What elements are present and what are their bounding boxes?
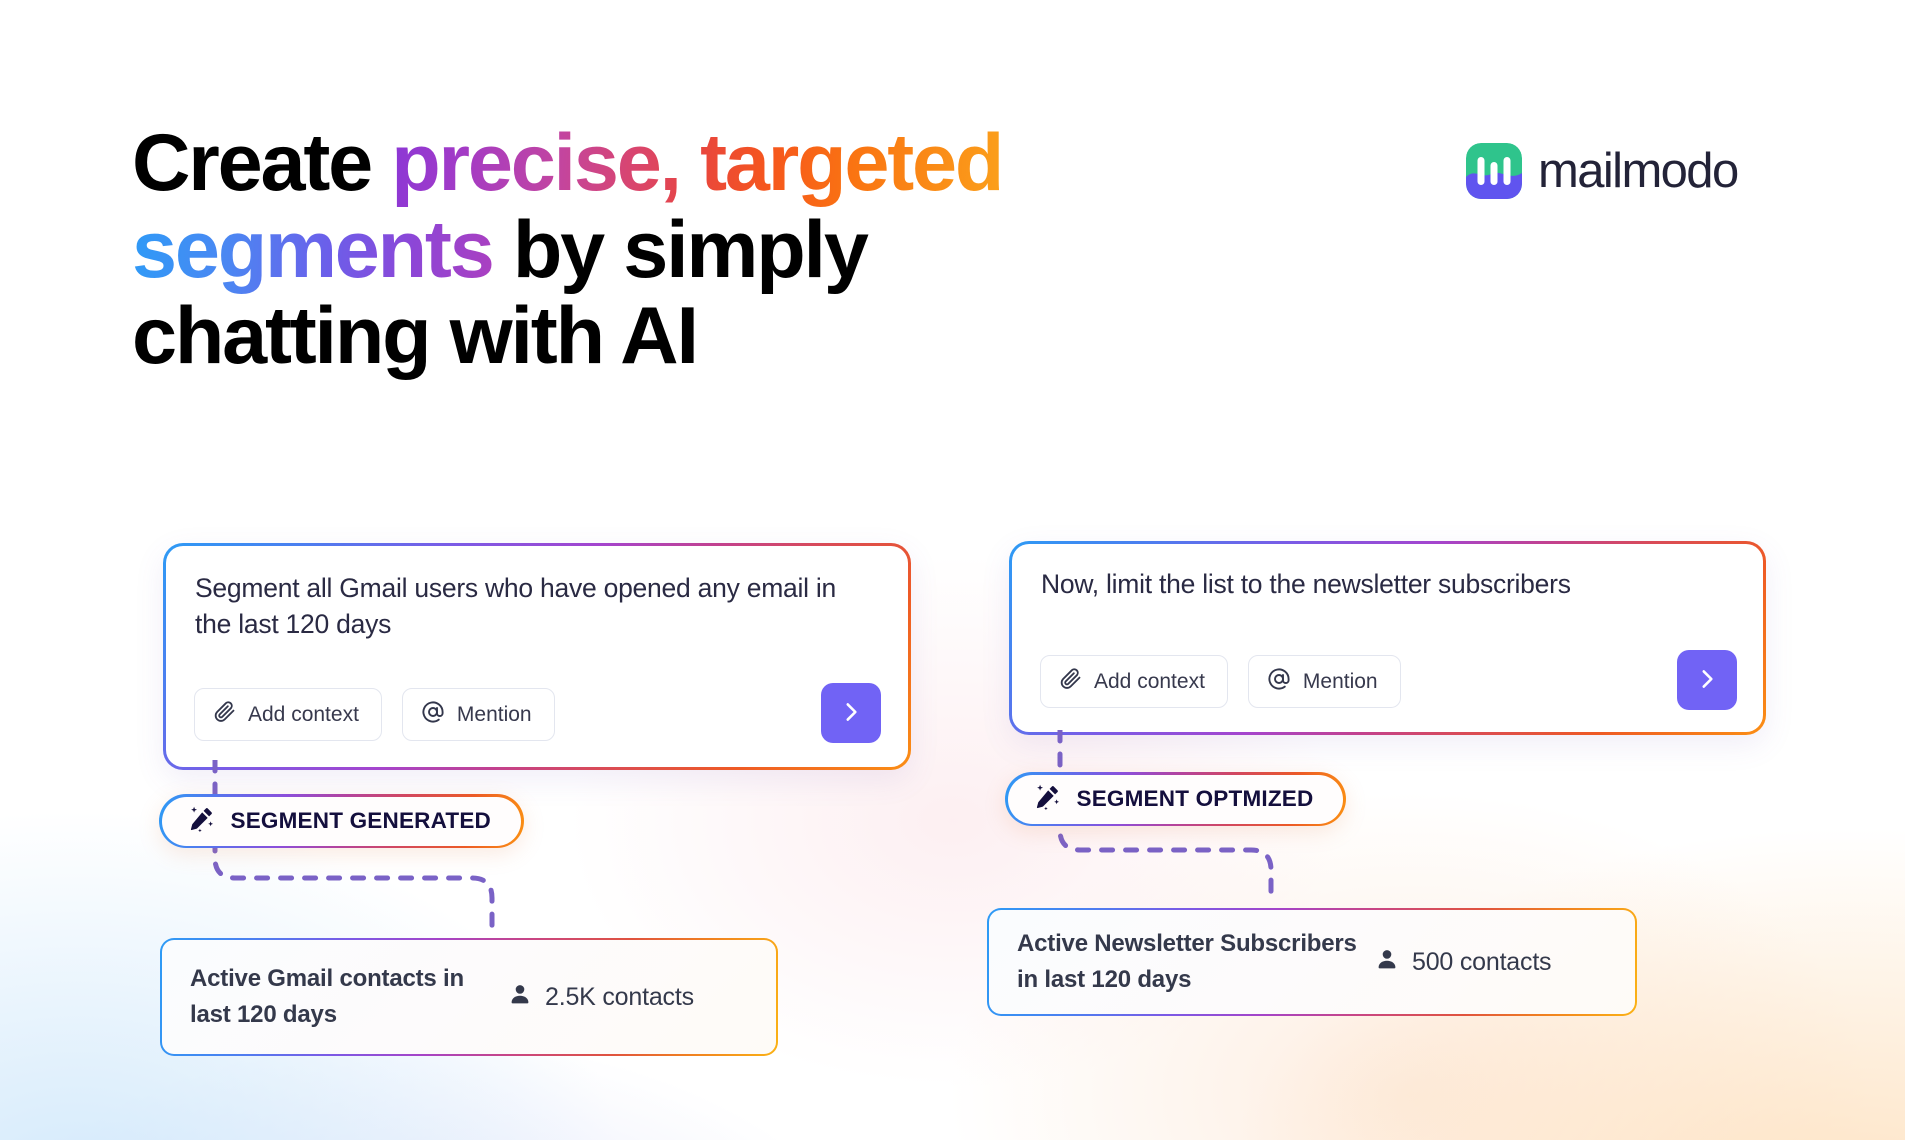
mention-label-1: Mention	[457, 703, 532, 727]
result-card-1[interactable]: Active Gmail contacts in last 120 days 2…	[160, 938, 778, 1056]
result-title-2: Active Newsletter Subscribers in last 12…	[1017, 926, 1367, 997]
status-badge-1-inner: SEGMENT GENERATED	[162, 797, 522, 846]
brand-logo: mailmodo	[1466, 143, 1738, 199]
mailmodo-logo-icon	[1466, 143, 1522, 199]
prompt-2-action-chips: Add context Mention	[1040, 655, 1401, 708]
chevron-right-icon	[1694, 666, 1720, 695]
mention-button-1[interactable]: Mention	[402, 688, 555, 741]
mention-label-2: Mention	[1303, 670, 1378, 694]
headline-line-3: chatting with AI	[132, 293, 1192, 380]
headline-plain-1: Create	[132, 118, 391, 208]
prompt-input-1[interactable]: Segment all Gmail users who have opened …	[195, 570, 868, 642]
prompt-card-2-inner: Now, limit the list to the newsletter su…	[1012, 544, 1763, 732]
prompt-card-1-inner: Segment all Gmail users who have opened …	[166, 546, 908, 767]
send-button-2[interactable]	[1677, 650, 1737, 710]
send-button-1[interactable]	[821, 683, 881, 743]
magic-wand-icon	[1034, 783, 1061, 815]
magic-wand-icon	[188, 805, 215, 837]
add-context-button-2[interactable]: Add context	[1040, 655, 1228, 708]
result-title-1: Active Gmail contacts in last 120 days	[190, 961, 490, 1032]
connector-left	[210, 760, 550, 960]
promo-canvas: Create precise, targeted segments by sim…	[0, 0, 1905, 1140]
result-count-label-2: 500 contacts	[1412, 948, 1551, 977]
add-context-label-1: Add context	[248, 703, 359, 727]
prompt-card-2[interactable]: Now, limit the list to the newsletter su…	[1009, 541, 1766, 735]
headline-gradient-2: segments	[132, 205, 493, 295]
person-icon	[508, 982, 532, 1013]
prompt-1-action-chips: Add context Mention	[194, 688, 555, 741]
result-count-2: 500 contacts	[1375, 947, 1551, 978]
result-card-2[interactable]: Active Newsletter Subscribers in last 12…	[987, 908, 1637, 1016]
headline-plain-2: by simply	[493, 205, 867, 295]
result-count-1: 2.5K contacts	[508, 982, 694, 1013]
add-context-button-1[interactable]: Add context	[194, 688, 382, 741]
person-icon	[1375, 947, 1399, 978]
connector-right	[1055, 730, 1325, 930]
result-card-1-inner: Active Gmail contacts in last 120 days 2…	[162, 940, 776, 1054]
result-card-2-inner: Active Newsletter Subscribers in last 12…	[989, 910, 1635, 1014]
status-badge-1-label: SEGMENT GENERATED	[231, 808, 492, 834]
prompt-input-2[interactable]: Now, limit the list to the newsletter su…	[1041, 566, 1723, 602]
mention-button-2[interactable]: Mention	[1248, 655, 1401, 708]
at-sign-icon	[1267, 667, 1291, 697]
status-badge-2: SEGMENT OPTMIZED	[1005, 772, 1346, 826]
status-badge-2-label: SEGMENT OPTMIZED	[1077, 786, 1314, 812]
status-badge-2-inner: SEGMENT OPTMIZED	[1008, 775, 1344, 824]
result-count-label-1: 2.5K contacts	[545, 983, 694, 1012]
page-title: Create precise, targeted segments by sim…	[132, 120, 1192, 380]
brand-name: mailmodo	[1538, 143, 1738, 199]
headline-gradient-1: precise, targeted	[391, 118, 1002, 208]
paperclip-icon	[213, 700, 236, 729]
headline-line-1: Create precise, targeted	[132, 120, 1192, 207]
at-sign-icon	[421, 700, 445, 730]
prompt-card-1[interactable]: Segment all Gmail users who have opened …	[163, 543, 911, 770]
add-context-label-2: Add context	[1094, 670, 1205, 694]
headline-line-2: segments by simply	[132, 207, 1192, 294]
chevron-right-icon	[838, 699, 864, 728]
paperclip-icon	[1059, 667, 1082, 696]
status-badge-1: SEGMENT GENERATED	[159, 794, 524, 848]
